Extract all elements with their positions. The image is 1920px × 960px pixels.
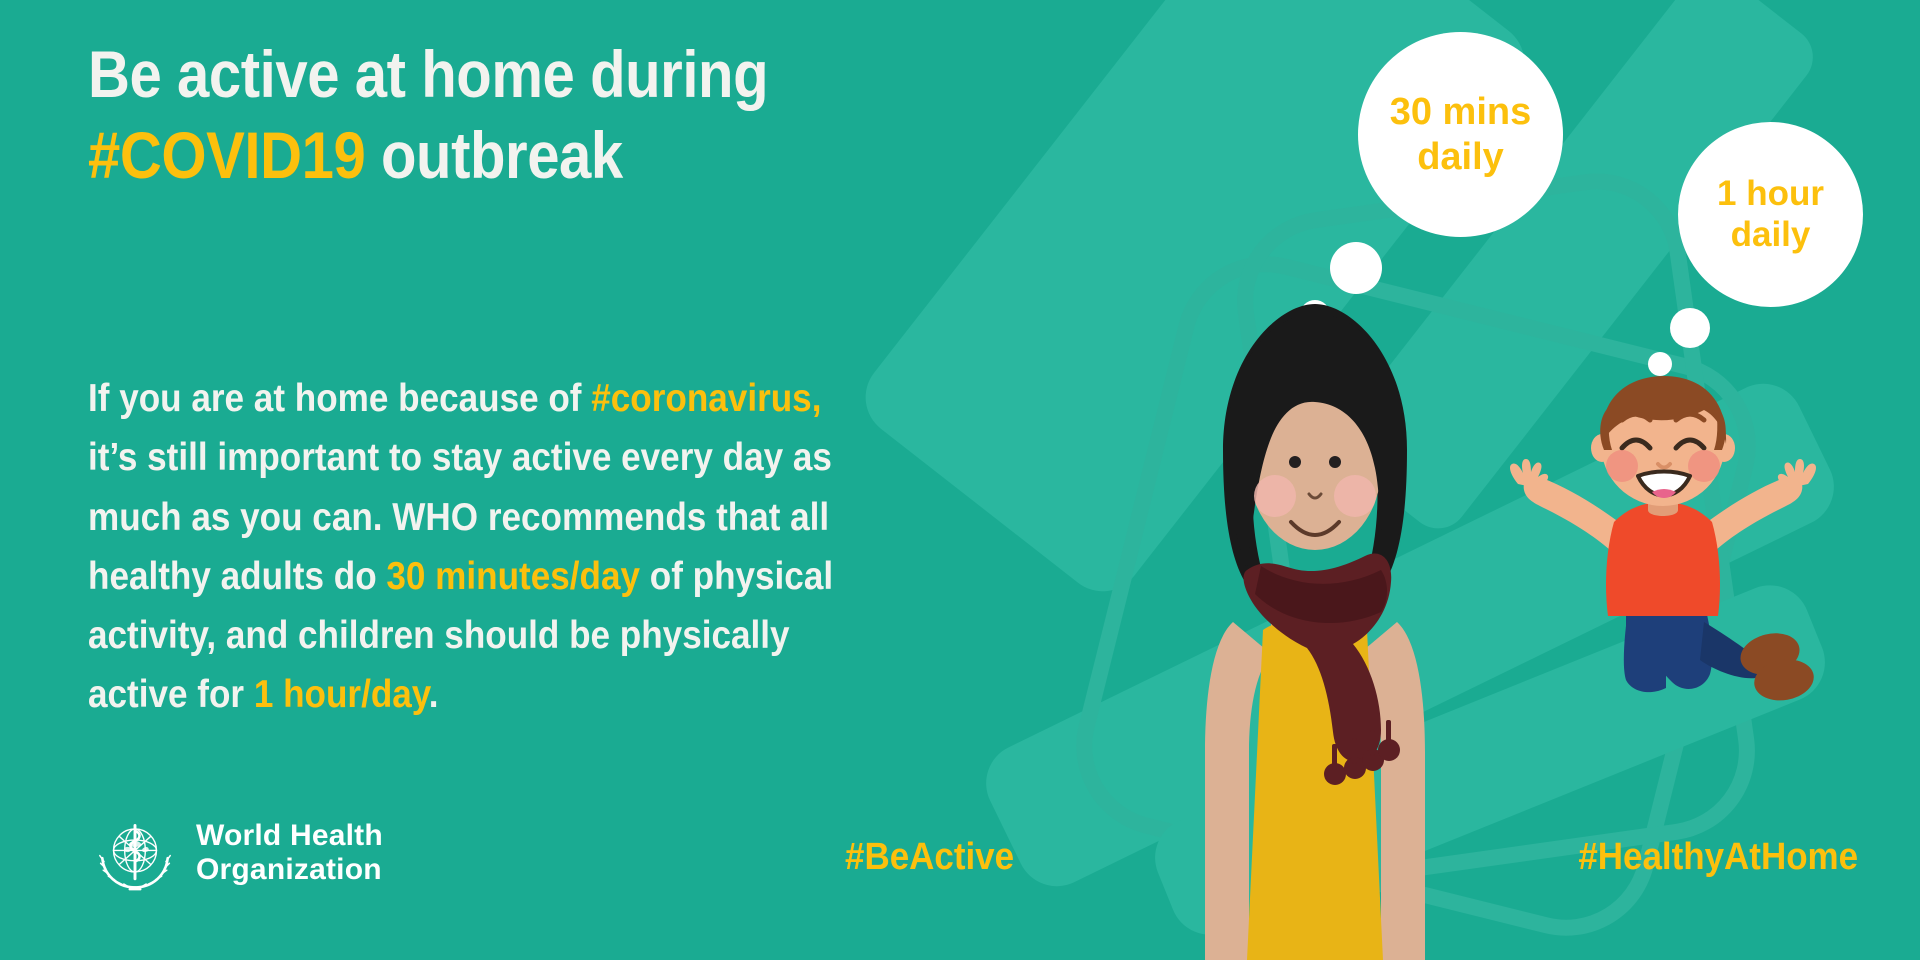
bubble-dot-large-boy <box>1670 308 1710 348</box>
body-copy: If you are at home because of #coronavir… <box>88 369 880 725</box>
woman-illustration <box>1175 282 1455 960</box>
body-highlight-1-hour: 1 hour/day <box>254 673 429 716</box>
who-name-line-2: Organization <box>196 853 383 887</box>
bubble-30mins-line-2: daily <box>1390 135 1532 179</box>
bubble-1hour-line-2: daily <box>1717 215 1824 256</box>
bubble-30mins: 30 mins daily <box>1358 32 1563 237</box>
hashtag-beactive: #BeActive <box>845 836 1014 879</box>
headline: Be active at home during #COVID19 outbre… <box>88 34 880 195</box>
body-highlight-30-minutes: 30 minutes/day <box>386 555 640 598</box>
bubble-1hour: 1 hour daily <box>1678 122 1863 307</box>
headline-line-1: Be active at home during <box>88 34 880 115</box>
who-emblem-icon <box>92 810 178 896</box>
body-hashtag-coronavirus: #coronavirus, <box>591 377 821 420</box>
boy-illustration <box>1498 372 1828 702</box>
bubble-30mins-line-1: 30 mins <box>1390 90 1532 134</box>
who-logo: World Health Organization <box>92 810 383 896</box>
who-wordmark: World Health Organization <box>196 819 383 886</box>
poster-canvas: Be active at home during #COVID19 outbre… <box>0 0 1920 960</box>
headline-line-2-rest: outbreak <box>365 118 622 192</box>
who-name-line-1: World Health <box>196 819 383 853</box>
headline-line-2: #COVID19 outbreak <box>88 115 880 196</box>
headline-hashtag-covid19: #COVID19 <box>88 118 365 192</box>
body-seg-1: If you are at home because of <box>88 377 591 420</box>
hashtag-healthyathome: #HealthyAtHome <box>1578 836 1858 879</box>
body-seg-7: . <box>429 673 439 716</box>
bubble-1hour-line-1: 1 hour <box>1717 174 1824 215</box>
